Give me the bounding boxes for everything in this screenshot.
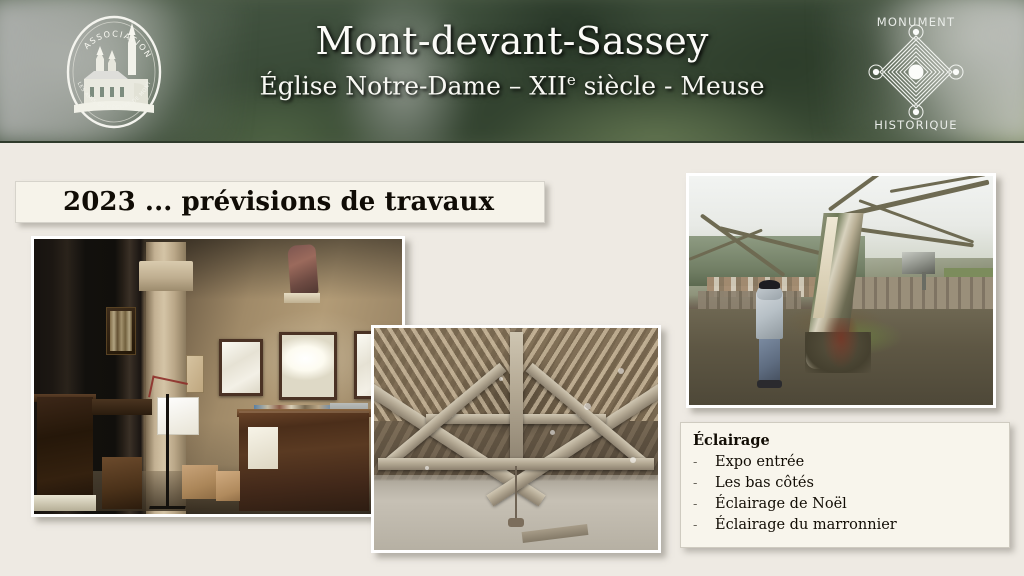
list-item-label: Les bas côtés <box>715 473 814 494</box>
person-cap <box>759 280 780 289</box>
floor-papers <box>34 495 96 511</box>
hanging-rod <box>515 466 517 522</box>
easel-post <box>166 394 169 506</box>
dash-bullet: - <box>693 517 715 536</box>
attic-roof-truss-photo <box>371 325 661 553</box>
wooden-lectern <box>37 397 93 509</box>
subtitle-prefix: Église Notre-Dame – XII <box>259 71 566 100</box>
shelf-items <box>110 311 132 351</box>
easel-sheet <box>157 397 199 435</box>
dash-bullet: - <box>693 475 715 494</box>
mh-logo-text-bottom: HISTORIQUE <box>874 118 958 132</box>
list-item-label: Expo entrée <box>715 452 804 473</box>
list-item: - Éclairage de Noël <box>693 494 999 515</box>
page-title: 2023 ... prévisions de travaux <box>16 187 494 217</box>
easel-feet <box>149 501 187 509</box>
utility-box <box>902 252 935 275</box>
subtitle-suffix: siècle - Meuse <box>576 71 765 100</box>
dust-speck <box>550 430 555 435</box>
list-item-label: Éclairage de Noël <box>715 494 847 515</box>
church-interior-exhibition-photo <box>31 236 405 517</box>
pillar-capital <box>139 261 193 291</box>
dash-bullet: - <box>693 496 715 515</box>
cardboard-box <box>216 471 240 501</box>
framed-panel <box>219 339 263 396</box>
cardboard-box <box>182 465 218 499</box>
header-bottom-rule <box>0 141 1024 143</box>
chestnut-tree-inspection-photo <box>686 173 996 408</box>
dash-bullet: - <box>693 454 715 473</box>
site-subtitle: Église Notre-Dame – XIIe siècle - Meuse <box>0 73 1024 98</box>
attic-roof-truss-image <box>374 328 658 550</box>
church-interior-image <box>34 239 402 514</box>
wooden-stool <box>102 457 142 509</box>
list-item: - Expo entrée <box>693 452 999 473</box>
site-title: Mont-devant-Sassey <box>0 22 1024 60</box>
list-item-label: Éclairage du marronnier <box>715 515 897 536</box>
king-post <box>510 332 523 466</box>
header-title-group: Mont-devant-Sassey Église Notre-Dame – X… <box>0 22 1024 98</box>
slide-heading-box: 2023 ... prévisions de travaux <box>15 181 545 223</box>
dark-wooden-table <box>92 399 152 415</box>
counter-poster <box>248 427 278 469</box>
dust-speck <box>499 377 503 381</box>
list-item: - Éclairage du marronnier <box>693 515 999 536</box>
trunk-foliage <box>823 318 859 368</box>
header-banner: ASSOCIATION LES AMIS DE L'ÉGLISE DE MONT… <box>0 0 1024 143</box>
dust-speck <box>425 466 429 470</box>
wall-statue <box>287 244 318 296</box>
framed-panel <box>279 332 337 400</box>
wall-display-shelf <box>106 307 136 355</box>
chestnut-tree-image <box>689 176 993 405</box>
utility-pole <box>922 272 927 290</box>
wooden-notice-board <box>186 355 204 393</box>
subtitle-ordinal: e <box>567 71 576 89</box>
eclairage-list: - Expo entrée - Les bas côtés - Éclairag… <box>693 452 999 536</box>
list-item: - Les bas côtés <box>693 473 999 494</box>
person-legs <box>759 336 780 382</box>
dust-speck <box>630 457 636 463</box>
statue-corbel <box>284 293 320 303</box>
eclairage-title: Éclairage <box>693 432 999 449</box>
eclairage-text-box: Éclairage - Expo entrée - Les bas côtés … <box>680 422 1010 548</box>
person-shoes <box>757 380 781 388</box>
hanging-rod-plate <box>508 518 524 527</box>
